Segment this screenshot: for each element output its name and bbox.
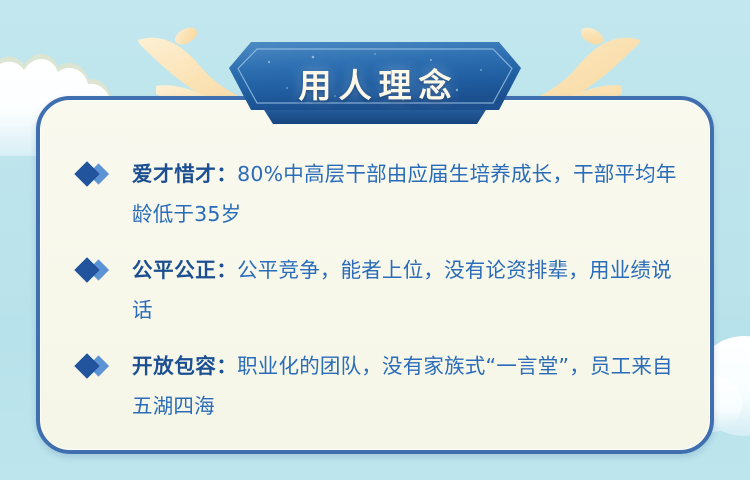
double-diamond-icon (74, 257, 114, 283)
title-banner: 用人理念 (225, 40, 525, 126)
double-diamond-icon (74, 161, 114, 187)
banner-title-text: 用人理念 (225, 40, 525, 126)
list-item-separator: ： (216, 354, 237, 378)
list-item-label: 爱才惜才 (132, 162, 216, 186)
list-item-label: 公平公正 (132, 258, 216, 282)
list-item-text: 爱才惜才：80%中高层干部由应届生培养成长，干部平均年龄低于35岁 (132, 162, 677, 226)
list-item: 公平公正：公平竞争，能者上位，没有论资排辈，用业绩说话 (74, 250, 684, 330)
content-card: 爱才惜才：80%中高层干部由应届生培养成长，干部平均年龄低于35岁 公平公正：公… (36, 96, 714, 454)
list-item: 爱才惜才：80%中高层干部由应届生培养成长，干部平均年龄低于35岁 (74, 154, 684, 234)
list-item-separator: ： (216, 258, 237, 282)
list-item: 开放包容：职业化的团队，没有家族式“一言堂”，员工来自五湖四海 (74, 346, 684, 426)
philosophy-list: 爱才惜才：80%中高层干部由应届生培养成长，干部平均年龄低于35岁 公平公正：公… (74, 154, 684, 426)
list-item-text: 开放包容：职业化的团队，没有家族式“一言堂”，员工来自五湖四海 (132, 354, 673, 418)
list-item-label: 开放包容 (132, 354, 216, 378)
double-diamond-icon (74, 353, 114, 379)
poster-root: 爱才惜才：80%中高层干部由应届生培养成长，干部平均年龄低于35岁 公平公正：公… (0, 0, 750, 480)
list-item-separator: ： (216, 162, 237, 186)
card-body: 爱才惜才：80%中高层干部由应届生培养成长，干部平均年龄低于35岁 公平公正：公… (74, 154, 684, 426)
list-item-text: 公平公正：公平竞争，能者上位，没有论资排辈，用业绩说话 (132, 258, 672, 322)
